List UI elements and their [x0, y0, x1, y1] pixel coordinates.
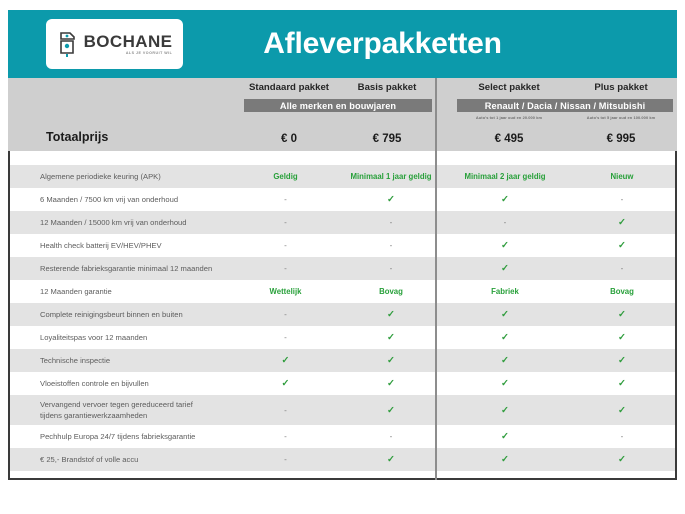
row-label: Loyaliteitspas voor 12 maanden [10, 332, 234, 343]
group-a-prices: € 0 € 795 [240, 133, 436, 145]
table-row: Vloeistoffen controle en bijvullen✓✓✓✓ [10, 372, 675, 395]
package-group-all-brands: Standaard pakket Basis pakket Alle merke… [240, 78, 436, 151]
table-row: € 25,- Brandstof of volle accu-✓✓✓ [10, 448, 675, 471]
cell-basis: - [337, 241, 445, 250]
table-row: Algemene periodieke keuring (APK)GeldigM… [10, 165, 675, 188]
row-label: Vloeistoffen controle en bijvullen [10, 378, 234, 389]
table-row: Loyaliteitspas voor 12 maanden-✓✓✓ [10, 326, 675, 349]
row-label: Algemene periodieke keuring (APK) [10, 171, 234, 182]
row-label: Resterende fabrieksgarantie minimaal 12 … [10, 263, 234, 274]
cell-standaard: Geldig [234, 172, 337, 181]
cell-plus: Nieuw [565, 172, 679, 181]
price-basis: € 795 [338, 133, 436, 145]
package-group-renault-group: Select pakket Plus pakket Renault / Daci… [453, 78, 677, 151]
group-b-subtitles: Auto's tot 1 jaar oud en 20.000 km Auto'… [453, 115, 677, 120]
package-header-content: Totaalprijs Standaard pakket Basis pakke… [8, 78, 677, 151]
cell-plus: ✓ [565, 240, 679, 251]
page-banner: Afleverpakketten BOCHANE ALS JE VOORUIT … [8, 10, 677, 78]
cell-basis: - [337, 264, 445, 273]
table-row: Complete reinigingsbeurt binnen en buite… [10, 303, 675, 326]
cell-standaard: ✓ [234, 355, 337, 366]
row-label: Vervangend vervoer tegen gereduceerd tar… [10, 399, 234, 421]
cell-standaard: - [234, 264, 337, 273]
price-plus: € 995 [565, 133, 677, 145]
cell-standaard: - [234, 333, 337, 342]
group-b-scope-bar: Renault / Dacia / Nissan / Mitsubishi [457, 99, 673, 112]
cell-standaard: - [234, 218, 337, 227]
cell-basis: ✓ [337, 405, 445, 416]
table-body: Algemene periodieke keuring (APK)GeldigM… [10, 165, 675, 471]
price-standaard: € 0 [240, 133, 338, 145]
cell-standaard: Wettelijk [234, 287, 337, 296]
table-row: Vervangend vervoer tegen gereduceerd tar… [10, 395, 675, 425]
row-label: 12 Maanden / 15000 km vrij van onderhoud [10, 217, 234, 228]
group-a-scope-bar: Alle merken en bouwjaren [244, 99, 432, 112]
comparison-table: Algemene periodieke keuring (APK)GeldigM… [8, 151, 677, 480]
cell-select: Fabriek [445, 287, 565, 296]
column-header-select[interactable]: Select pakket [453, 82, 565, 93]
table-row: Health check batterij EV/HEV/PHEV--✓✓ [10, 234, 675, 257]
cell-plus: - [565, 195, 679, 204]
table-group-divider [435, 151, 437, 480]
row-label: Health check batterij EV/HEV/PHEV [10, 240, 234, 251]
cell-basis: ✓ [337, 378, 445, 389]
table-row: Resterende fabrieksgarantie minimaal 12 … [10, 257, 675, 280]
cell-select: ✓ [445, 263, 565, 274]
cell-standaard: - [234, 432, 337, 441]
logo-tagline: ALS JE VOORUIT WIL [126, 52, 173, 56]
column-sub-plus: Auto's tot 5 jaar oud en 100.000 km [565, 115, 677, 120]
cell-plus: ✓ [565, 378, 679, 389]
cell-select: ✓ [445, 454, 565, 465]
cell-standaard: - [234, 195, 337, 204]
cell-standaard: ✓ [234, 378, 337, 389]
row-label: 6 Maanden / 7500 km vrij van onderhoud [10, 194, 234, 205]
cell-plus: ✓ [565, 332, 679, 343]
cell-standaard: - [234, 406, 337, 415]
cell-plus: - [565, 264, 679, 273]
group-b-column-names: Select pakket Plus pakket [453, 82, 677, 93]
logo-wordmark: BOCHANE [84, 33, 173, 50]
cell-basis: Bovag [337, 287, 445, 296]
group-a-column-names: Standaard pakket Basis pakket [240, 82, 436, 93]
cell-basis: ✓ [337, 194, 445, 205]
cell-select: ✓ [445, 405, 565, 416]
afleverpakketten-sheet: Afleverpakketten BOCHANE ALS JE VOORUIT … [0, 0, 685, 514]
table-row: 12 Maanden / 15000 km vrij van onderhoud… [10, 211, 675, 234]
row-label: Complete reinigingsbeurt binnen en buite… [10, 309, 234, 320]
cell-select: ✓ [445, 240, 565, 251]
cell-basis: ✓ [337, 454, 445, 465]
cell-basis: - [337, 432, 445, 441]
cell-select: ✓ [445, 309, 565, 320]
cell-plus: Bovag [565, 287, 679, 296]
column-sub-select: Auto's tot 1 jaar oud en 20.000 km [453, 115, 565, 120]
table-row: 12 Maanden garantieWettelijkBovagFabriek… [10, 280, 675, 303]
row-label: 12 Maanden garantie [10, 286, 234, 297]
cell-basis: ✓ [337, 332, 445, 343]
cell-plus: ✓ [565, 454, 679, 465]
cell-basis: - [337, 218, 445, 227]
cell-plus: ✓ [565, 309, 679, 320]
row-label: Technische inspectie [10, 355, 234, 366]
cell-select: - [445, 218, 565, 227]
row-label: € 25,- Brandstof of volle accu [10, 454, 234, 465]
cell-basis: ✓ [337, 355, 445, 366]
column-header-standaard[interactable]: Standaard pakket [240, 82, 338, 93]
cell-plus: - [565, 432, 679, 441]
cell-basis: Minimaal 1 jaar geldig [337, 172, 445, 181]
bochane-logo: BOCHANE ALS JE VOORUIT WIL [46, 19, 183, 69]
table-row: Technische inspectie✓✓✓✓ [10, 349, 675, 372]
table-row: Pechhulp Europa 24/7 tijdens fabrieksgar… [10, 425, 675, 448]
group-b-prices: € 495 € 995 [453, 133, 677, 145]
cell-select: ✓ [445, 332, 565, 343]
table-row: 6 Maanden / 7500 km vrij van onderhoud-✓… [10, 188, 675, 211]
row-label-line2: tijdens garantiewerkzaamheden [40, 410, 234, 421]
cell-plus: ✓ [565, 355, 679, 366]
row-label: Pechhulp Europa 24/7 tijdens fabrieksgar… [10, 431, 234, 442]
cell-basis: ✓ [337, 309, 445, 320]
cell-select: Minimaal 2 jaar geldig [445, 172, 565, 181]
cell-select: ✓ [445, 431, 565, 442]
cell-plus: ✓ [565, 217, 679, 228]
column-header-plus[interactable]: Plus pakket [565, 82, 677, 93]
cell-select: ✓ [445, 355, 565, 366]
price-select: € 495 [453, 133, 565, 145]
cell-standaard: - [234, 310, 337, 319]
cell-select: ✓ [445, 378, 565, 389]
cell-standaard: - [234, 241, 337, 250]
total-price-label: Totaalprijs [46, 130, 108, 144]
cell-plus: ✓ [565, 405, 679, 416]
column-header-basis[interactable]: Basis pakket [338, 82, 436, 93]
cell-select: ✓ [445, 194, 565, 205]
cell-standaard: - [234, 455, 337, 464]
car-wash-icon [57, 30, 79, 58]
